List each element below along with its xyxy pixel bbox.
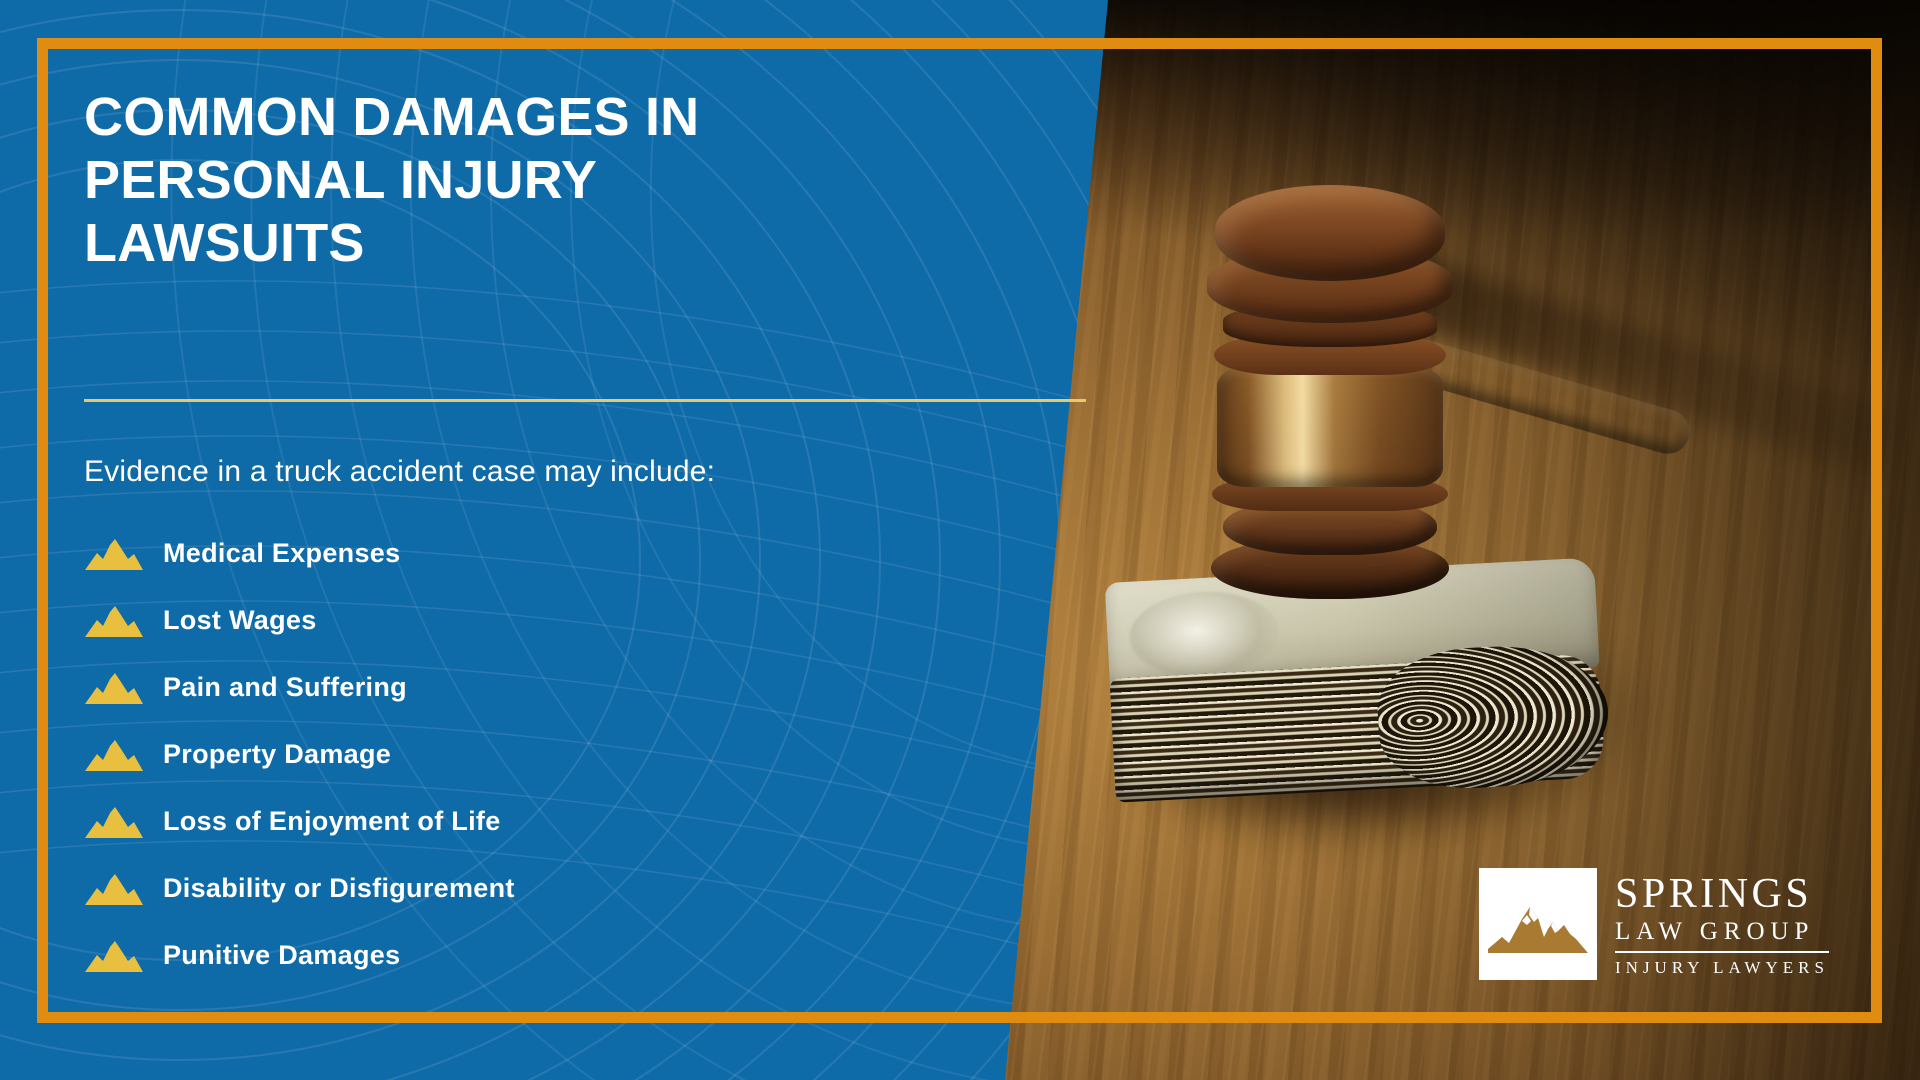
slide-subheading: Evidence in a truck accident case may in… (84, 455, 715, 489)
list-item-label: Loss of Enjoyment of Life (163, 806, 501, 837)
list-item-label: Property Damage (163, 739, 391, 770)
list-item-label: Lost Wages (163, 605, 317, 636)
mountain-bullet-icon (84, 738, 144, 772)
logo-line-law-group: LAW GROUP (1615, 919, 1829, 944)
gold-divider-rule (84, 399, 1086, 402)
list-item: Property Damage (84, 721, 515, 788)
list-item-label: Medical Expenses (163, 538, 400, 569)
list-item-label: Punitive Damages (163, 940, 400, 971)
list-item: Punitive Damages (84, 922, 515, 989)
list-item: Lost Wages (84, 587, 515, 654)
mountain-bullet-icon (84, 671, 144, 705)
logo-wordmark: SPRINGS LAW GROUP INJURY LAWYERS (1615, 868, 1829, 980)
damages-list: Medical ExpensesLost WagesPain and Suffe… (84, 520, 515, 989)
logo-divider-rule (1615, 951, 1829, 953)
list-item: Medical Expenses (84, 520, 515, 587)
logo-line-springs: SPRINGS (1615, 873, 1829, 915)
logo-line-injury-lawyers: INJURY LAWYERS (1615, 959, 1829, 976)
list-item: Loss of Enjoyment of Life (84, 788, 515, 855)
list-item: Disability or Disfigurement (84, 855, 515, 922)
mountain-logo-icon (1479, 868, 1597, 980)
page-title: COMMON DAMAGES IN PERSONAL INJURY LAWSUI… (84, 86, 884, 276)
brand-logo[interactable]: SPRINGS LAW GROUP INJURY LAWYERS (1479, 868, 1829, 980)
infographic-slide: COMMON DAMAGES IN PERSONAL INJURY LAWSUI… (0, 0, 1920, 1080)
list-item: Pain and Suffering (84, 654, 515, 721)
mountain-bullet-icon (84, 805, 144, 839)
list-item-label: Disability or Disfigurement (163, 873, 515, 904)
mountain-bullet-icon (84, 537, 144, 571)
slide-content: COMMON DAMAGES IN PERSONAL INJURY LAWSUI… (84, 86, 964, 276)
mountain-bullet-icon (84, 604, 144, 638)
mountain-bullet-icon (84, 872, 144, 906)
mountain-bullet-icon (84, 939, 144, 973)
mountain-logo-glyph (1486, 891, 1590, 957)
list-item-label: Pain and Suffering (163, 672, 407, 703)
